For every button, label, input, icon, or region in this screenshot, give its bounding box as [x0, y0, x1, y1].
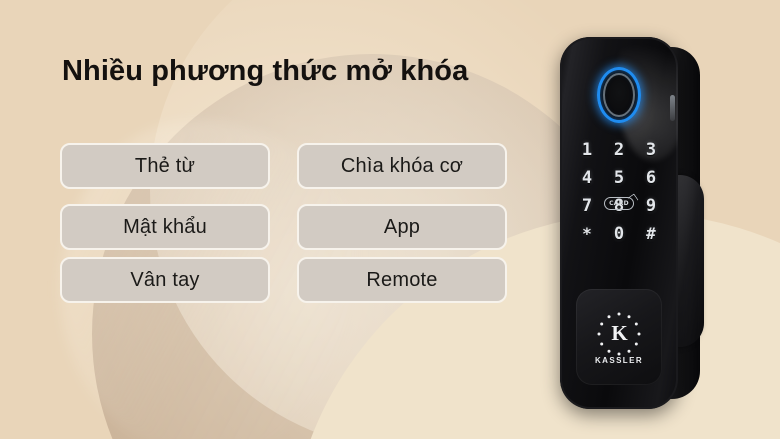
fingerprint-icon: [597, 67, 641, 123]
unlock-method-mechanical-key: Chìa khóa cơ: [297, 143, 507, 189]
unlock-method-password: Mật khẩu: [60, 204, 270, 250]
page-title: Nhiều phương thức mở khóa: [62, 55, 468, 88]
card-reader-badge: CARD: [604, 197, 634, 210]
brand-plate: K KASSLER: [576, 289, 662, 385]
keypad-key-9: 9: [646, 198, 656, 215]
keypad-key-1: 1: [582, 142, 592, 159]
unlock-method-fingerprint: Vân tay: [60, 257, 270, 303]
side-indicator-notch: [670, 95, 675, 121]
keypad-key-6: 6: [646, 170, 656, 187]
unlock-method-remote: Remote: [297, 257, 507, 303]
keypad-key-5: 5: [614, 170, 624, 187]
unlock-method-label: Mật khẩu: [123, 216, 207, 239]
fingerprint-ring: [597, 67, 641, 123]
lock-faceplate: 1 2 3 4 5 6 7 8 9 * 0 # CARD: [560, 37, 678, 409]
keypad-key-3: 3: [646, 142, 656, 159]
unlock-method-label: Vân tay: [130, 269, 199, 292]
keypad-key-0: 0: [614, 226, 624, 243]
promotional-banner: Nhiều phương thức mở khóa Thẻ từ Mật khẩ…: [0, 0, 780, 439]
keypad-key-asterisk: *: [582, 226, 592, 242]
keypad-key-4: 4: [582, 170, 592, 187]
unlock-method-label: Thẻ từ: [135, 155, 195, 178]
unlock-method-label: Chìa khóa cơ: [341, 155, 463, 178]
unlock-method-label: App: [384, 216, 420, 239]
keypad-key-2: 2: [614, 142, 624, 159]
keypad: 1 2 3 4 5 6 7 8 9 * 0 #: [571, 137, 667, 247]
keypad-key-hash: #: [646, 226, 656, 242]
unlock-method-label: Remote: [366, 269, 437, 292]
kassler-emblem-icon: K: [595, 310, 643, 358]
unlock-method-card: Thẻ từ: [60, 143, 270, 189]
star-ring-icon: [595, 310, 643, 358]
unlock-method-app: App: [297, 204, 507, 250]
smart-lock-device: 1 2 3 4 5 6 7 8 9 * 0 # CARD: [552, 25, 724, 425]
keypad-key-7: 7: [582, 198, 592, 215]
